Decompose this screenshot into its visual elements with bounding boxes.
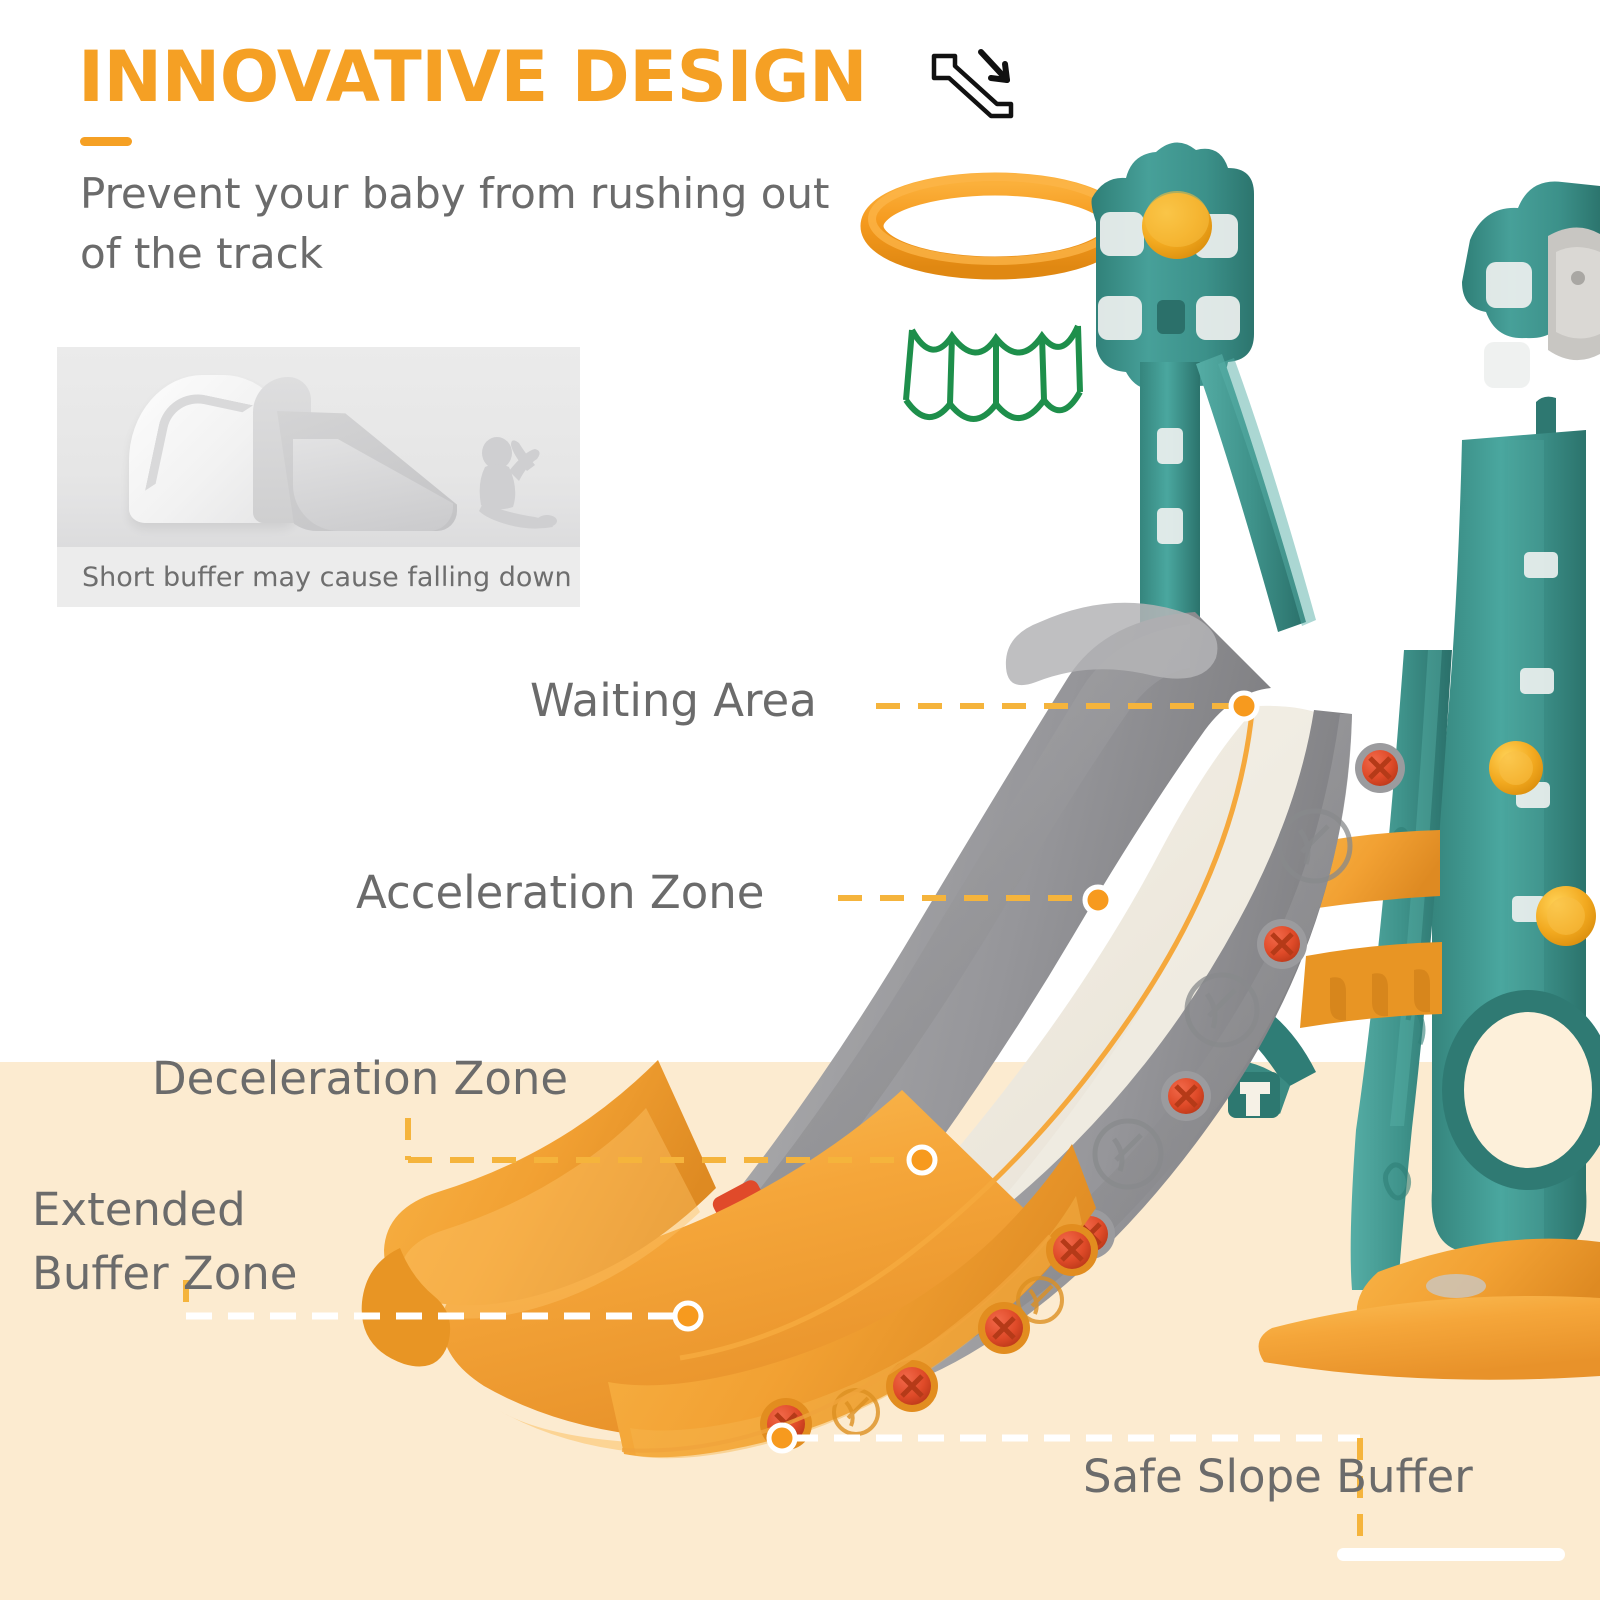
warning-inset-caption-text: Short buffer may cause falling down bbox=[57, 562, 572, 593]
warning-inset-photo bbox=[57, 347, 580, 547]
title-underline bbox=[80, 137, 132, 146]
bottom-accent-bar bbox=[1337, 1548, 1565, 1561]
page-subtitle: Prevent your baby from rushing out of th… bbox=[80, 164, 840, 283]
warning-inset-caption: Short buffer may cause falling down bbox=[57, 547, 580, 607]
callout-label-safe-slope-buffer: Safe Slope Buffer bbox=[1083, 1452, 1473, 1502]
page-title: INNOVATIVE DESIGN bbox=[78, 42, 867, 112]
callout-label-extended-buffer-zone: Extended Buffer Zone bbox=[32, 1178, 362, 1306]
callout-label-deceleration-zone: Deceleration Zone bbox=[152, 1054, 568, 1104]
inset-fallen-child bbox=[461, 431, 557, 531]
callout-label-acceleration-zone: Acceleration Zone bbox=[356, 868, 765, 918]
warning-inset-panel: Short buffer may cause falling down bbox=[57, 347, 580, 607]
basketball-hoop bbox=[872, 142, 1316, 646]
infographic-canvas: INNOVATIVE DESIGN Prevent your baby from… bbox=[0, 0, 1600, 1600]
escalator-down-icon bbox=[925, 38, 1017, 124]
callout-label-waiting-area: Waiting Area bbox=[530, 676, 817, 726]
